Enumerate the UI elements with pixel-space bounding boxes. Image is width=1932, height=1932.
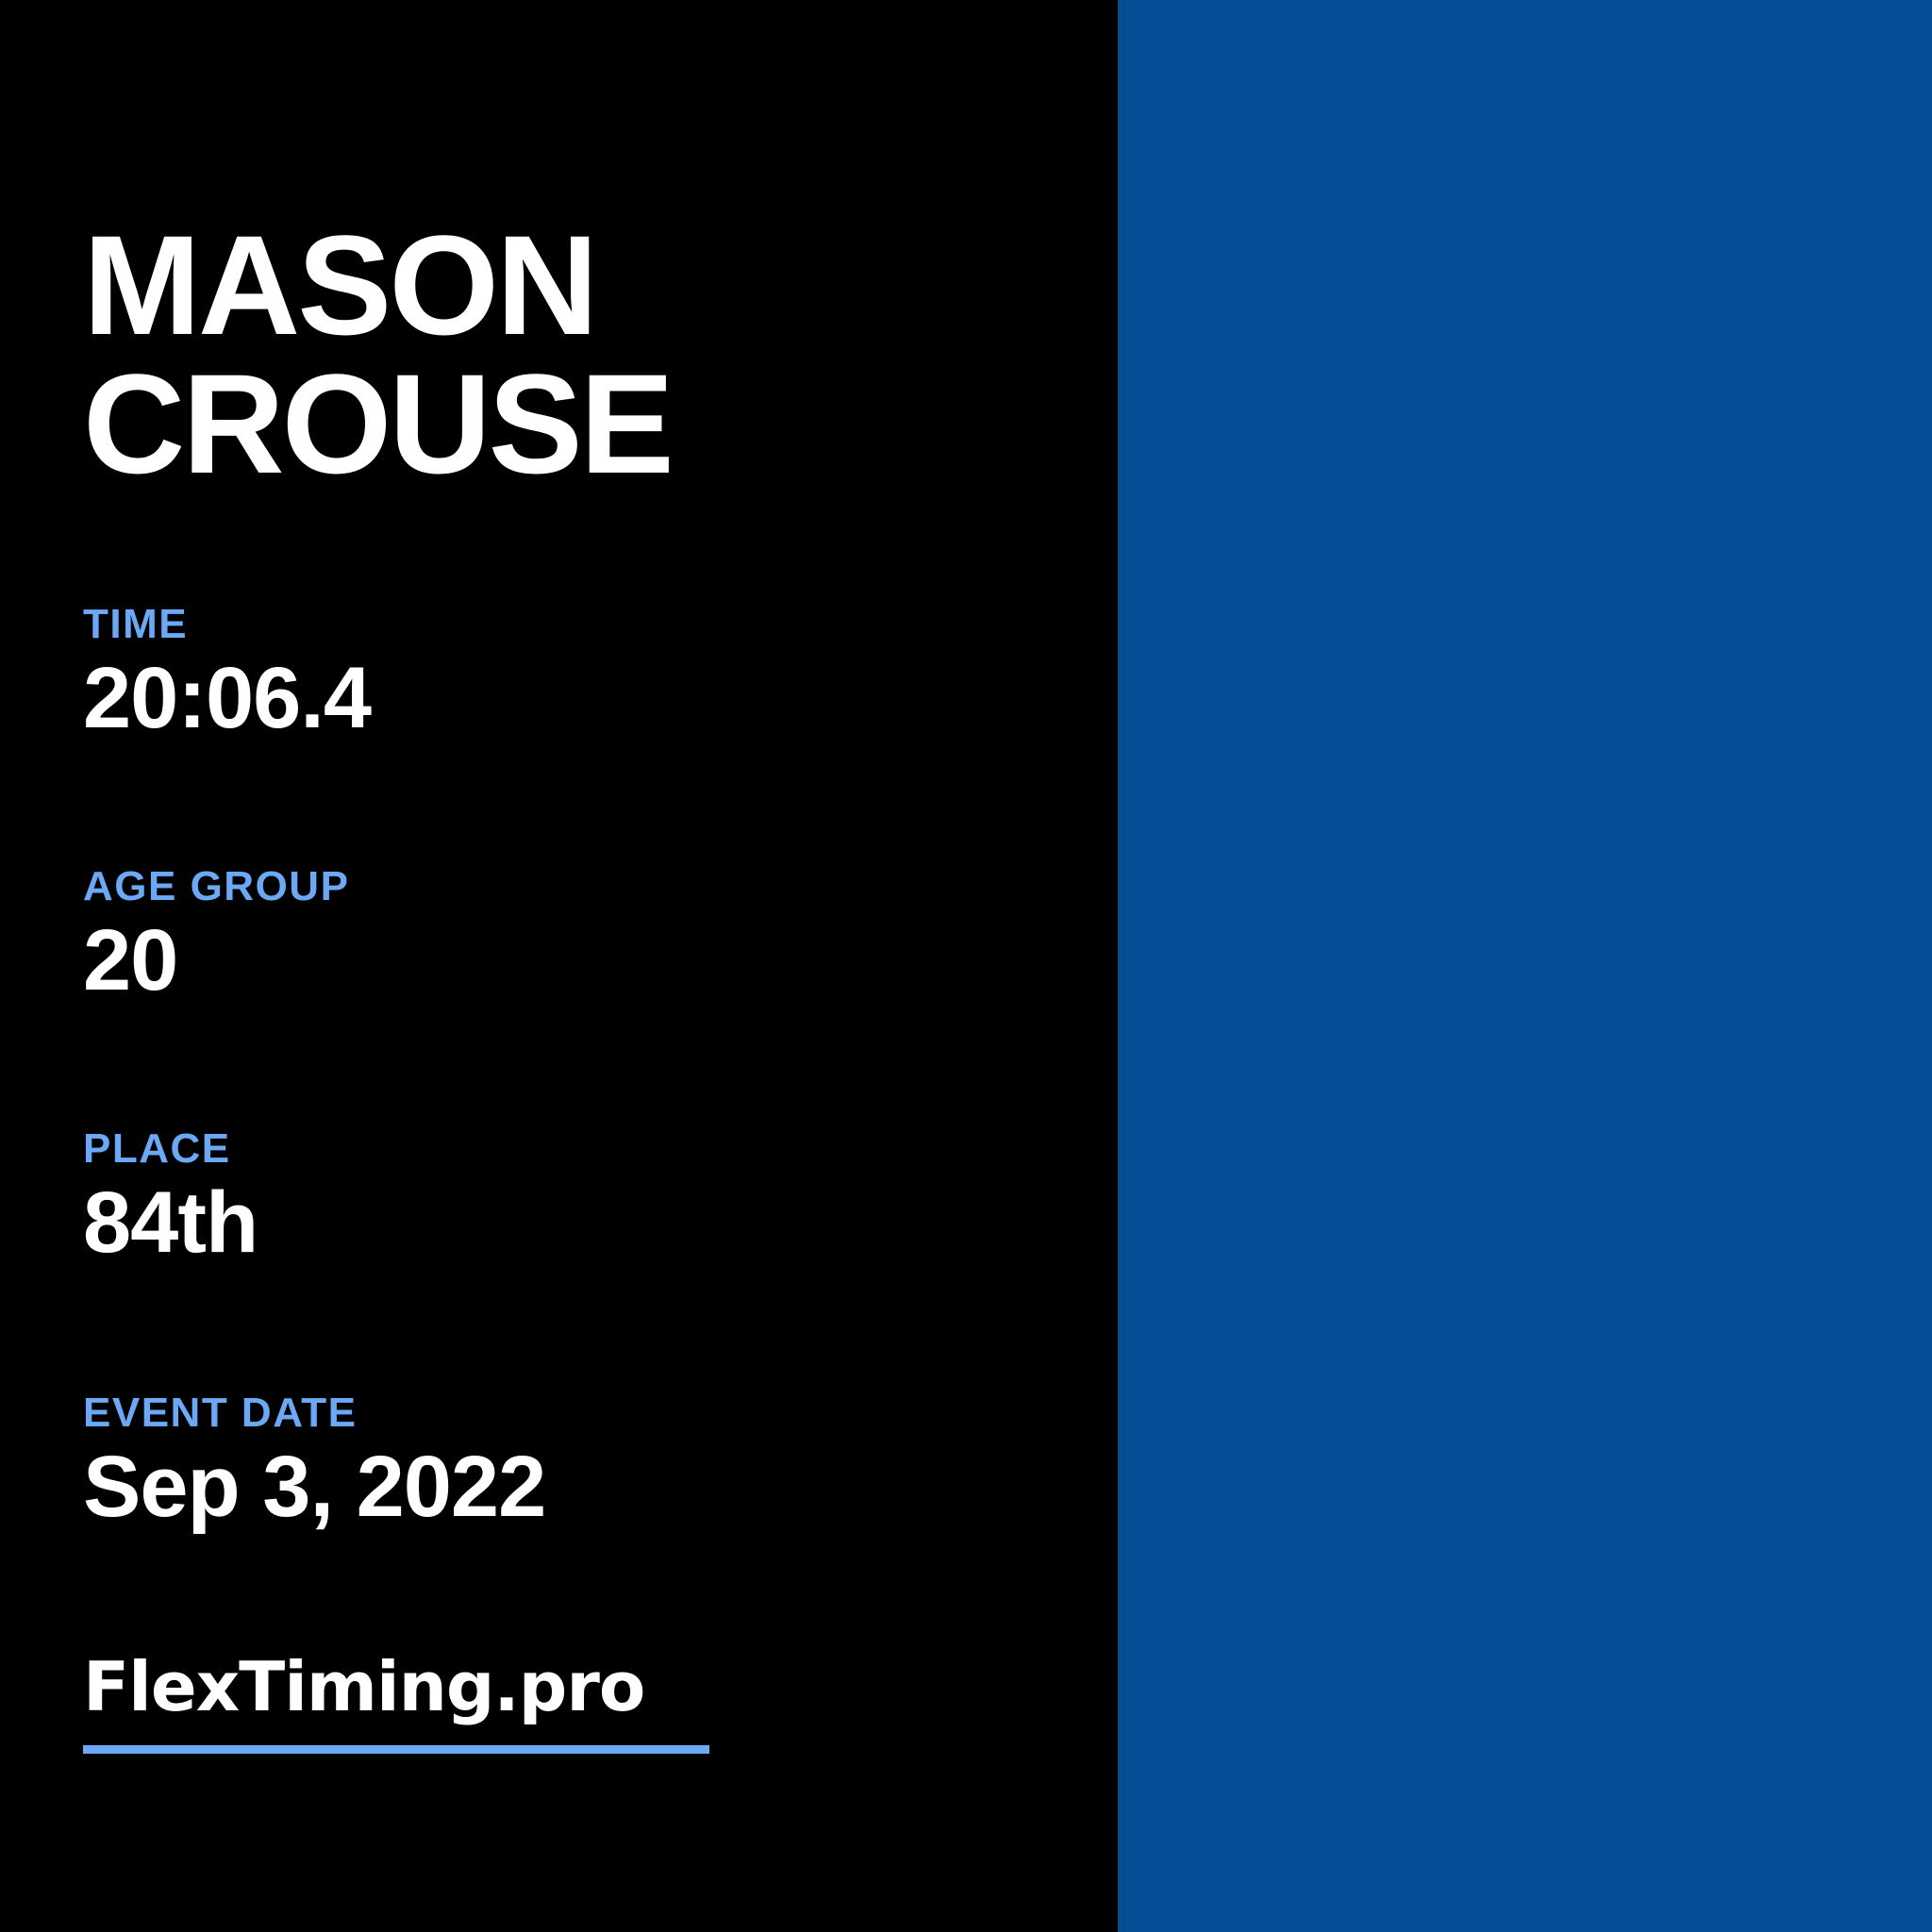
stat-value-place: 84th xyxy=(83,1179,1026,1266)
stat-block-time: TIME 20:06.4 xyxy=(83,604,1026,741)
stat-value-event-date: Sep 3, 2022 xyxy=(83,1443,1026,1530)
stat-label-place: PLACE xyxy=(83,1128,1026,1170)
stat-block-age-group: AGE GROUP 20 xyxy=(83,866,1026,1004)
stat-label-event-date: EVENT DATE xyxy=(83,1392,1026,1434)
stat-label-age-group: AGE GROUP xyxy=(83,866,1026,908)
stat-label-time: TIME xyxy=(83,604,1026,645)
stat-value-time: 20:06.4 xyxy=(83,655,1026,741)
right-medal-panel xyxy=(1118,0,1932,1932)
brand-wordmark: FlexTiming.pro xyxy=(83,1653,743,1721)
athlete-name: MASON CROUSE xyxy=(83,216,1064,493)
brand-logo[interactable]: FlexTiming.pro xyxy=(83,1653,743,1754)
stat-block-place: PLACE 84th xyxy=(83,1128,1026,1266)
stat-block-event-date: EVENT DATE Sep 3, 2022 xyxy=(83,1392,1026,1530)
brand-underline xyxy=(83,1745,709,1754)
left-info-panel: MASON CROUSE TIME 20:06.4 AGE GROUP 20 P… xyxy=(0,0,1118,1932)
stat-value-age-group: 20 xyxy=(83,917,1026,1004)
race-result-card: MASON CROUSE TIME 20:06.4 AGE GROUP 20 P… xyxy=(0,0,1932,1932)
